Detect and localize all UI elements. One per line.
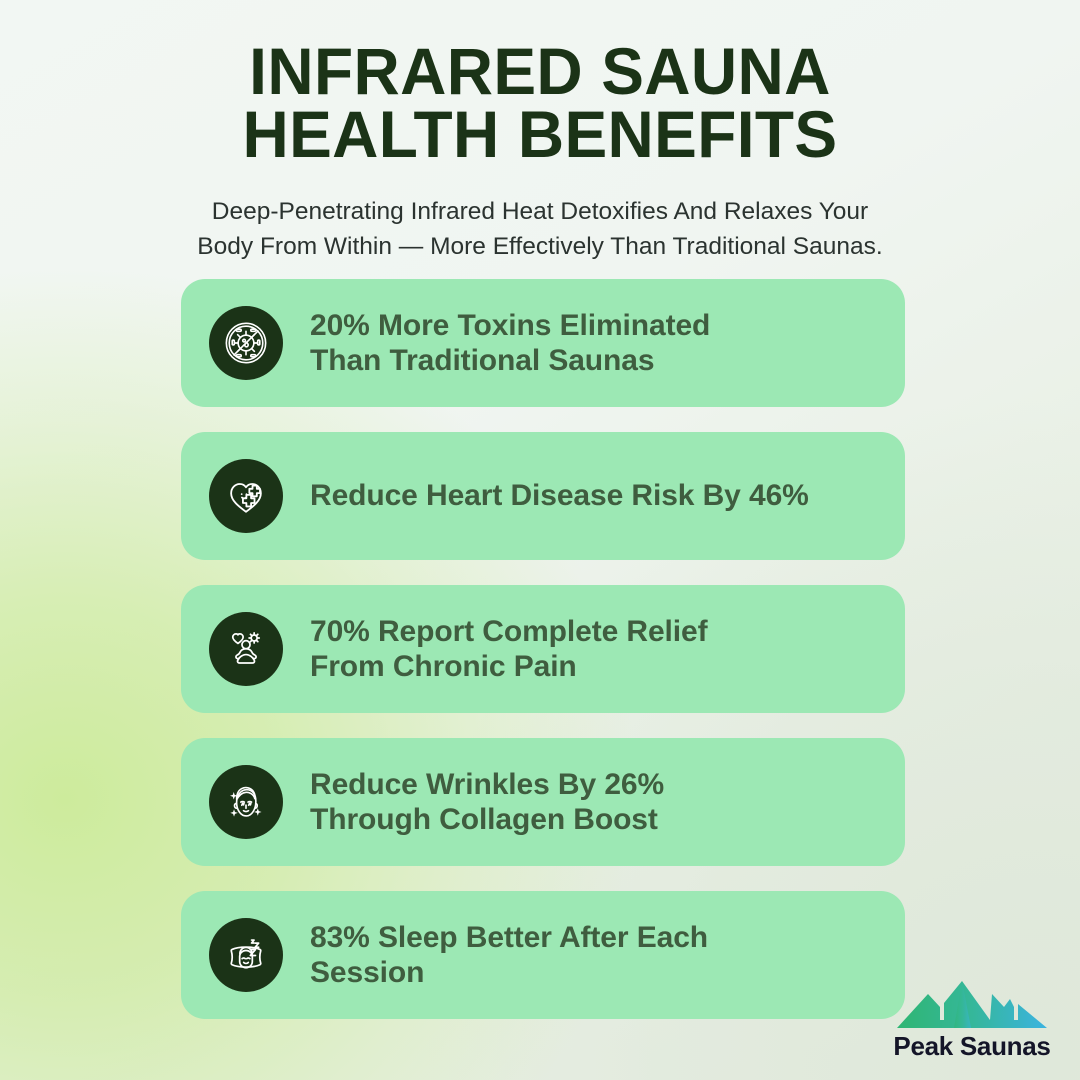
benefit-text-line-1: Reduce Heart Disease Risk By 46% [310, 479, 809, 512]
benefit-text-line-2: Session [310, 956, 424, 989]
brand-logo: Peak Saunas [886, 976, 1058, 1062]
benefit-card: 83% Sleep Better After Each Session [181, 891, 905, 1019]
benefit-text-line-1: 20% More Toxins Eliminated [310, 309, 710, 342]
benefit-text-line-2: Than Traditional Saunas [310, 344, 654, 377]
benefit-card: 20% More Toxins Eliminated Than Traditio… [181, 279, 905, 407]
no-toxins-icon [209, 306, 283, 380]
benefit-text-line-1: 70% Report Complete Relief [310, 615, 708, 648]
title-line-1: INFRARED SAUNA [16, 40, 1064, 103]
benefit-text-line-2: Through Collagen Boost [310, 803, 658, 836]
sleep-icon [209, 918, 283, 992]
subtitle-line-1: Deep-Penetrating Infrared Heat Detoxifie… [155, 195, 925, 230]
benefit-text-line-2: From Chronic Pain [310, 650, 577, 683]
benefit-text-line-1: 83% Sleep Better After Each [310, 921, 708, 954]
infographic-root: INFRARED SAUNA HEALTH BENEFITS Deep-Pene… [0, 0, 1080, 1080]
page-subtitle: Deep-Penetrating Infrared Heat Detoxifie… [155, 195, 925, 265]
brand-name: Peak Saunas [886, 1031, 1058, 1062]
benefit-text: 83% Sleep Better After Each Session [310, 920, 708, 991]
benefit-text: Reduce Heart Disease Risk By 46% [310, 478, 809, 513]
facial-skin-icon [209, 765, 283, 839]
benefit-text: Reduce Wrinkles By 26% Through Collagen … [310, 767, 664, 838]
benefit-card: Reduce Wrinkles By 26% Through Collagen … [181, 738, 905, 866]
page-title: INFRARED SAUNA HEALTH BENEFITS [16, 40, 1064, 165]
title-line-2: HEALTH BENEFITS [16, 103, 1064, 166]
benefit-text: 70% Report Complete Relief From Chronic … [310, 614, 708, 685]
subtitle-line-2: Body From Within — More Effectively Than… [155, 230, 925, 265]
benefit-card: 70% Report Complete Relief From Chronic … [181, 585, 905, 713]
header: INFRARED SAUNA HEALTH BENEFITS Deep-Pene… [0, 40, 1080, 265]
benefit-text-line-1: Reduce Wrinkles By 26% [310, 768, 664, 801]
meditation-relief-icon [209, 612, 283, 686]
benefit-text: 20% More Toxins Eliminated Than Traditio… [310, 308, 710, 379]
mountain-peak-icon [892, 976, 1052, 1030]
benefits-list: 20% More Toxins Eliminated Than Traditio… [181, 279, 905, 1044]
heart-health-icon [209, 459, 283, 533]
benefit-card: Reduce Heart Disease Risk By 46% [181, 432, 905, 560]
